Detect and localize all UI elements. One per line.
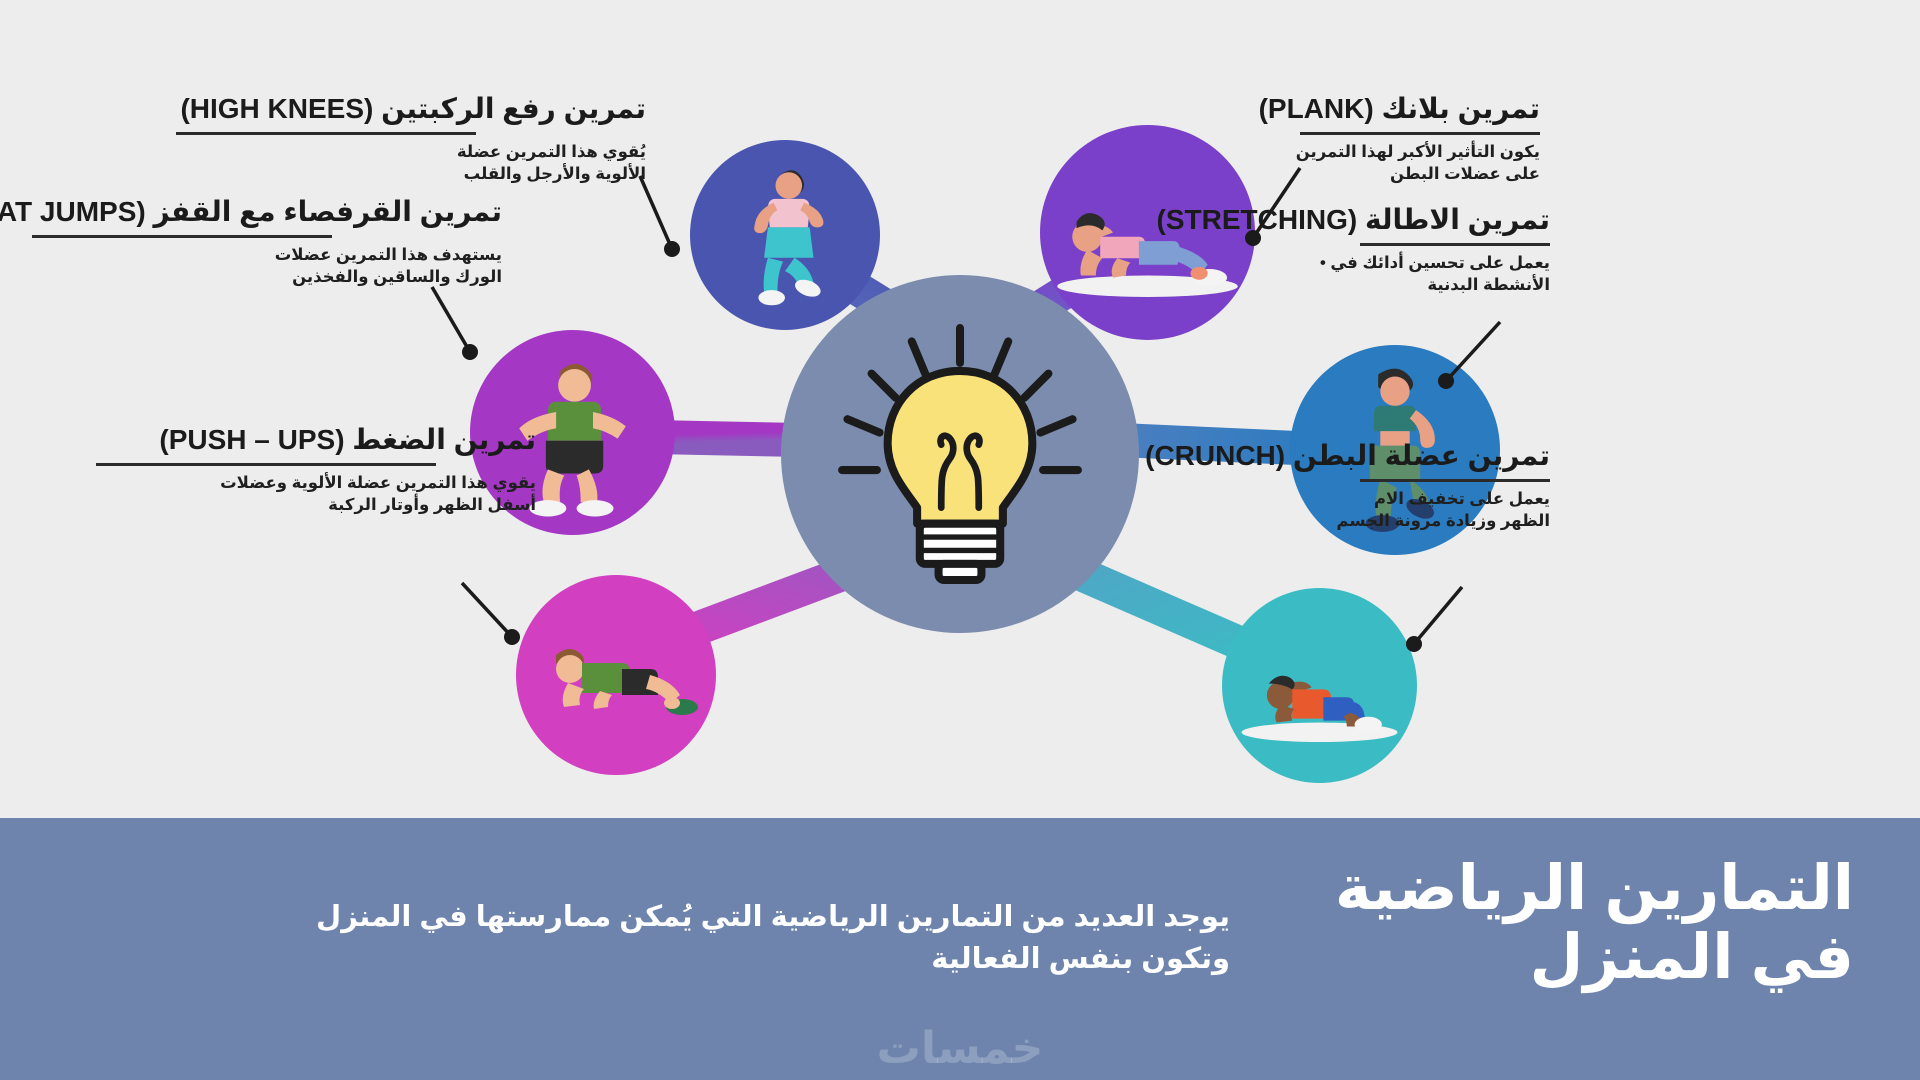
label-push-ups: تمرين الضغط (PUSH – UPS) يقوي هذا التمري…: [96, 424, 536, 517]
label-title-plank: تمرين بلانك (PLANK): [1070, 93, 1540, 125]
high-knees-figure-icon: [690, 140, 880, 330]
node-crunch[interactable]: [1222, 588, 1417, 783]
lightbulb-icon: [826, 320, 1094, 588]
label-crunch: تمرين عضلة البطن (CRUNCH) يعمل على تخفيف…: [1110, 440, 1550, 533]
label-rule-crunch: [1360, 479, 1550, 482]
watermark-text: خمسات: [877, 1023, 1044, 1074]
push-up-figure-icon: [516, 575, 716, 775]
label-rule-push-ups: [96, 463, 436, 466]
label-squat-jumps: تمرين القرفصاء مع القفز (SQUAT JUMPS) يس…: [32, 196, 502, 289]
label-rule-high-knees: [176, 132, 476, 135]
node-push-ups[interactable]: [516, 575, 716, 775]
banner-subtext: يوجد العديد من التمارين الرياضية التي يُ…: [230, 896, 1230, 980]
label-title-push-ups: تمرين الضغط (PUSH – UPS): [96, 424, 536, 456]
banner-headline: التمارين الرياضية في المنزل: [1335, 854, 1854, 993]
label-desc-high-knees: يُقوي هذا التمرين عضلة الألوية والأرجل و…: [176, 141, 646, 186]
label-desc-plank: يكون التأثير الأكبر لهذا التمرين على عضل…: [1070, 141, 1540, 186]
label-rule-squat-jumps: [32, 235, 332, 238]
infographic-canvas: تمرين رفع الركبتين (HIGH KNEES) يُقوي هذ…: [0, 0, 1920, 1080]
label-title-squat-jumps: تمرين القرفصاء مع القفز (SQUAT JUMPS): [32, 196, 502, 228]
label-desc-squat-jumps: يستهدف هذا التمرين عضلات الورك والساقين …: [32, 244, 502, 289]
label-stretching: تمرين الاطالة (STRETCHING) يعمل على تحسي…: [1130, 204, 1550, 297]
bottom-banner: التمارين الرياضية في المنزل يوجد العديد …: [0, 818, 1920, 1080]
label-high-knees: تمرين رفع الركبتين (HIGH KNEES) يُقوي هذ…: [176, 93, 646, 186]
label-desc-stretching: يعمل على تحسين أدائك في • الأنشطة البدني…: [1130, 252, 1550, 297]
crunch-figure-icon: [1222, 588, 1417, 783]
label-plank: تمرين بلانك (PLANK) يكون التأثير الأكبر …: [1070, 93, 1540, 186]
label-title-stretching: تمرين الاطالة (STRETCHING): [1130, 204, 1550, 236]
label-title-high-knees: تمرين رفع الركبتين (HIGH KNEES): [176, 93, 646, 125]
node-high-knees[interactable]: [690, 140, 880, 330]
label-desc-crunch: يعمل على تخفيف الام الظهر وزيادة مرونة ا…: [1110, 488, 1550, 533]
label-title-crunch: تمرين عضلة البطن (CRUNCH): [1110, 440, 1550, 472]
label-rule-plank: [1300, 132, 1540, 135]
label-rule-stretching: [1360, 243, 1550, 246]
label-desc-push-ups: يقوي هذا التمرين عضلة الألوية وعضلات أسف…: [96, 472, 536, 517]
